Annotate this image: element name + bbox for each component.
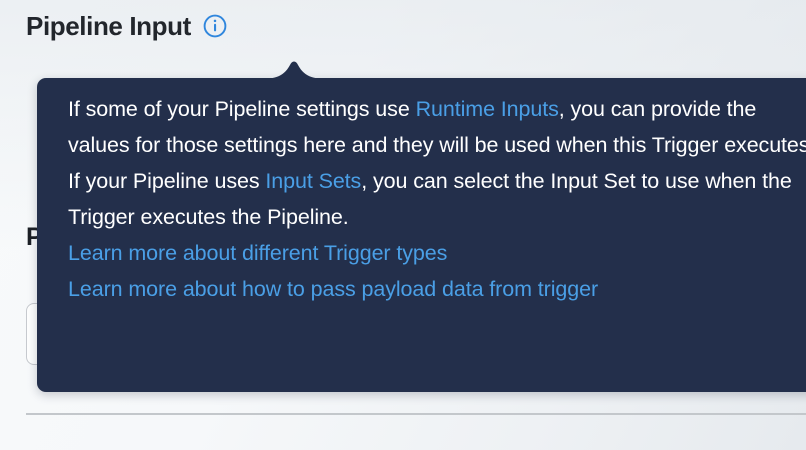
page-title: Pipeline Input: [26, 13, 191, 39]
tooltip-p2-text-before: If your Pipeline uses: [68, 169, 265, 193]
info-tooltip: If some of your Pipeline settings use Ru…: [37, 78, 806, 392]
learn-more-trigger-types-link[interactable]: Learn more about different Trigger types: [68, 235, 447, 271]
page-header: Pipeline Input: [26, 13, 227, 39]
tooltip-paragraph-2: If your Pipeline uses Input Sets, you ca…: [68, 163, 806, 235]
tooltip-body: If some of your Pipeline settings use Ru…: [68, 91, 806, 307]
tooltip-p1-text-before: If some of your Pipeline settings use: [68, 97, 416, 121]
info-circle-icon[interactable]: [203, 14, 227, 38]
runtime-inputs-link[interactable]: Runtime Inputs: [416, 97, 559, 121]
section-divider: [26, 413, 806, 415]
learn-more-payload-data-link[interactable]: Learn more about how to pass payload dat…: [68, 271, 598, 307]
input-sets-link[interactable]: Input Sets: [265, 169, 361, 193]
tooltip-paragraph-1: If some of your Pipeline settings use Ru…: [68, 91, 806, 163]
tooltip-arrow: [257, 56, 331, 79]
